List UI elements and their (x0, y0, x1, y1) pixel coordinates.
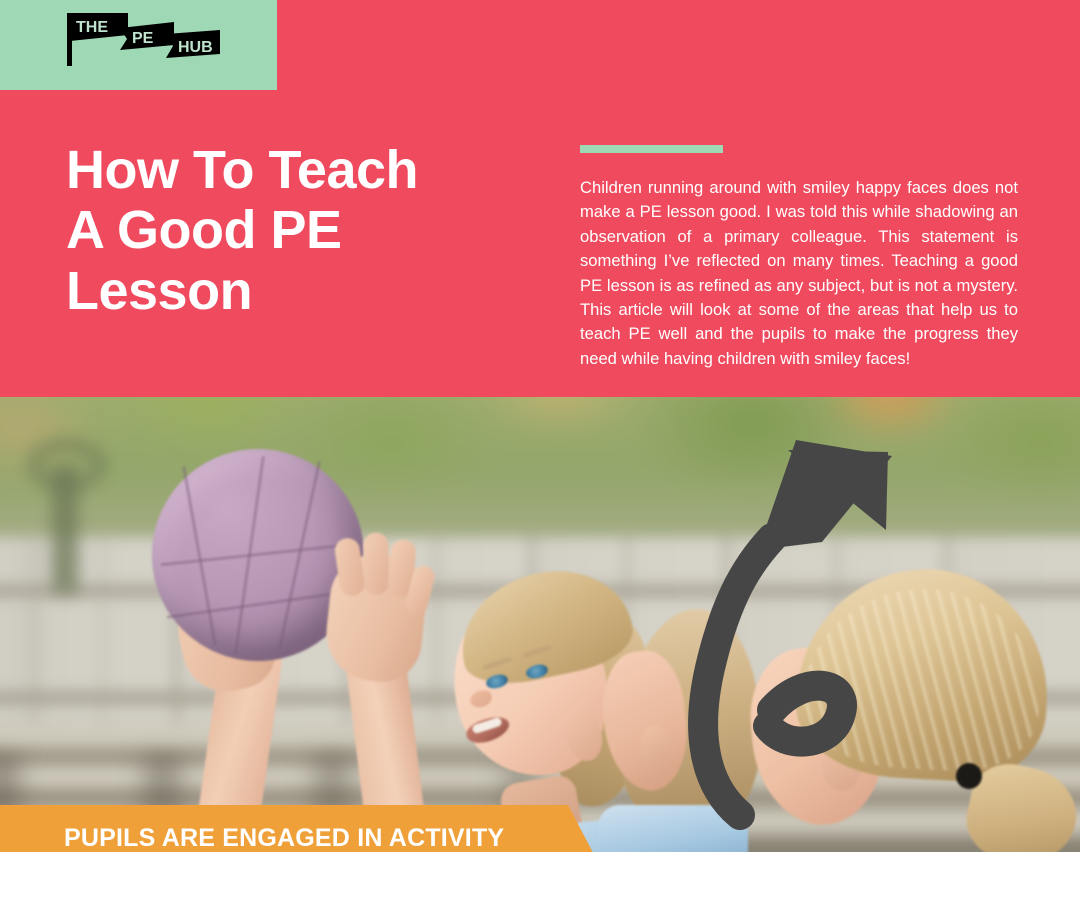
article-infographic-page: THE PE HUB How To Teach A Good PE Lesson… (0, 0, 1080, 904)
logo-flag-2-text: PE (132, 30, 154, 47)
page-title: How To Teach A Good PE Lesson (66, 140, 536, 321)
page-title-line-1: How To Teach (66, 140, 536, 200)
photo-girl-middle-ear (640, 725, 670, 767)
logo-flag-3-text: HUB (178, 39, 213, 56)
photo-background-post (52, 465, 78, 593)
photo-girl-right (760, 585, 1080, 852)
bottom-white-strip (0, 852, 1080, 904)
photo-girl-middle-shirt (598, 805, 748, 852)
logo-flag-1-text: THE (76, 19, 108, 36)
logo-block: THE PE HUB (0, 0, 277, 90)
caption-line-1: PUPILS ARE ENGAGED IN ACTIVITY (64, 822, 584, 854)
the-pe-hub-logo[interactable]: THE PE HUB (62, 8, 222, 68)
green-accent-rule (580, 145, 723, 153)
hero-photo (0, 397, 1080, 852)
page-title-line-3: Lesson (66, 261, 536, 321)
intro-paragraph: Children running around with smiley happ… (580, 176, 1018, 371)
photo-girl-right-hair-tie (956, 763, 982, 789)
page-title-line-2: A Good PE (66, 200, 536, 260)
